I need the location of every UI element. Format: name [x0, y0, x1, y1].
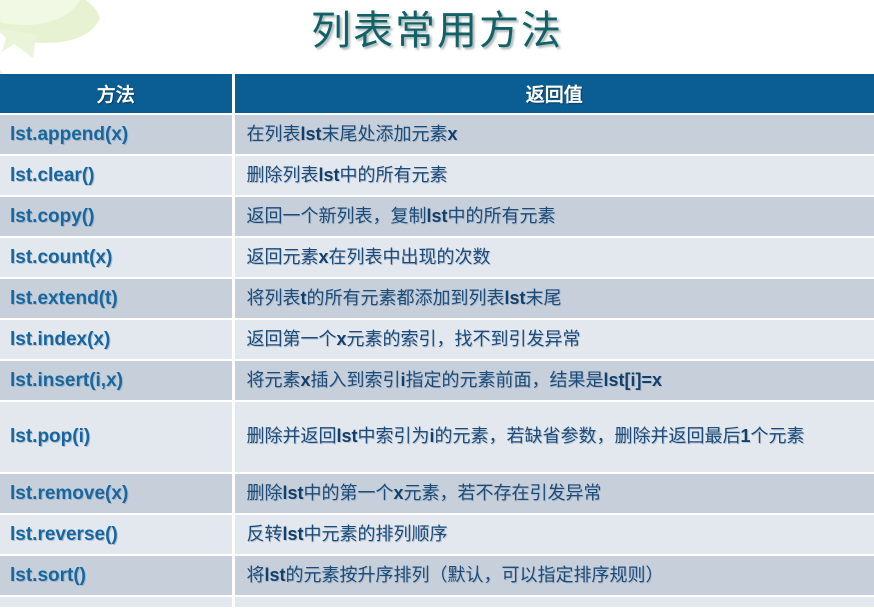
table-body: lst.append(x)在列表lst末尾处添加元素xlst.clear()删除… [0, 114, 874, 608]
cell-return-value: 返回元素x在列表中出现的次数 [233, 237, 874, 278]
list-methods-table: 方法 返回值 lst.append(x)在列表lst末尾处添加元素xlst.cl… [0, 74, 874, 609]
table-row: lst.remove(x)删除lst中的第一个x元素，若不存在引发异常 [0, 473, 874, 514]
cell-method-name: lst.pop(i) [0, 401, 233, 473]
cell-method-name: lst.extend(t) [0, 278, 233, 319]
cell-method-name: lst.index(x) [0, 319, 233, 360]
table-row: lst.append(x)在列表lst末尾处添加元素x [0, 114, 874, 155]
table-row-clipped [0, 596, 874, 608]
table-row: lst.clear()删除列表lst中的所有元素 [0, 155, 874, 196]
table-row: lst.pop(i)删除并返回lst中索引为i的元素，若缺省参数，删除并返回最后… [0, 401, 874, 473]
cell-return-value: 返回第一个x元素的索引，找不到引发异常 [233, 319, 874, 360]
table-row: lst.count(x)返回元素x在列表中出现的次数 [0, 237, 874, 278]
cell-method-name [0, 596, 233, 608]
cell-method-name: lst.append(x) [0, 114, 233, 155]
cell-return-value: 将元素x插入到索引i指定的元素前面，结果是lst[i]=x [233, 360, 874, 401]
cell-return-value: 将lst的元素按升序排列（默认，可以指定排序规则） [233, 555, 874, 596]
table-row: lst.sort()将lst的元素按升序排列（默认，可以指定排序规则） [0, 555, 874, 596]
table-row: lst.extend(t)将列表t的所有元素都添加到列表lst末尾 [0, 278, 874, 319]
cell-method-name: lst.remove(x) [0, 473, 233, 514]
cell-return-value: 在列表lst末尾处添加元素x [233, 114, 874, 155]
table-row: lst.index(x)返回第一个x元素的索引，找不到引发异常 [0, 319, 874, 360]
cell-method-name: lst.reverse() [0, 514, 233, 555]
table-row: lst.insert(i,x)将元素x插入到索引i指定的元素前面，结果是lst[… [0, 360, 874, 401]
table-header-row: 方法 返回值 [0, 74, 874, 114]
cell-method-name: lst.copy() [0, 196, 233, 237]
cell-return-value: 返回一个新列表，复制lst中的所有元素 [233, 196, 874, 237]
cell-method-name: lst.clear() [0, 155, 233, 196]
cell-method-name: lst.sort() [0, 555, 233, 596]
cell-return-value: 删除lst中的第一个x元素，若不存在引发异常 [233, 473, 874, 514]
page-title: 列表常用方法 [0, 0, 874, 68]
table-row: lst.reverse()反转lst中元素的排列顺序 [0, 514, 874, 555]
cell-return-value: 将列表t的所有元素都添加到列表lst末尾 [233, 278, 874, 319]
cell-method-name: lst.insert(i,x) [0, 360, 233, 401]
cell-return-value: 反转lst中元素的排列顺序 [233, 514, 874, 555]
column-header-method: 方法 [0, 74, 233, 114]
cell-return-value: 删除列表lst中的所有元素 [233, 155, 874, 196]
cell-return-value: 删除并返回lst中索引为i的元素，若缺省参数，删除并返回最后1个元素 [233, 401, 874, 473]
table-row: lst.copy()返回一个新列表，复制lst中的所有元素 [0, 196, 874, 237]
cell-method-name: lst.count(x) [0, 237, 233, 278]
column-header-return: 返回值 [233, 74, 874, 114]
table-header: 方法 返回值 [0, 74, 874, 114]
cell-return-value [233, 596, 874, 608]
